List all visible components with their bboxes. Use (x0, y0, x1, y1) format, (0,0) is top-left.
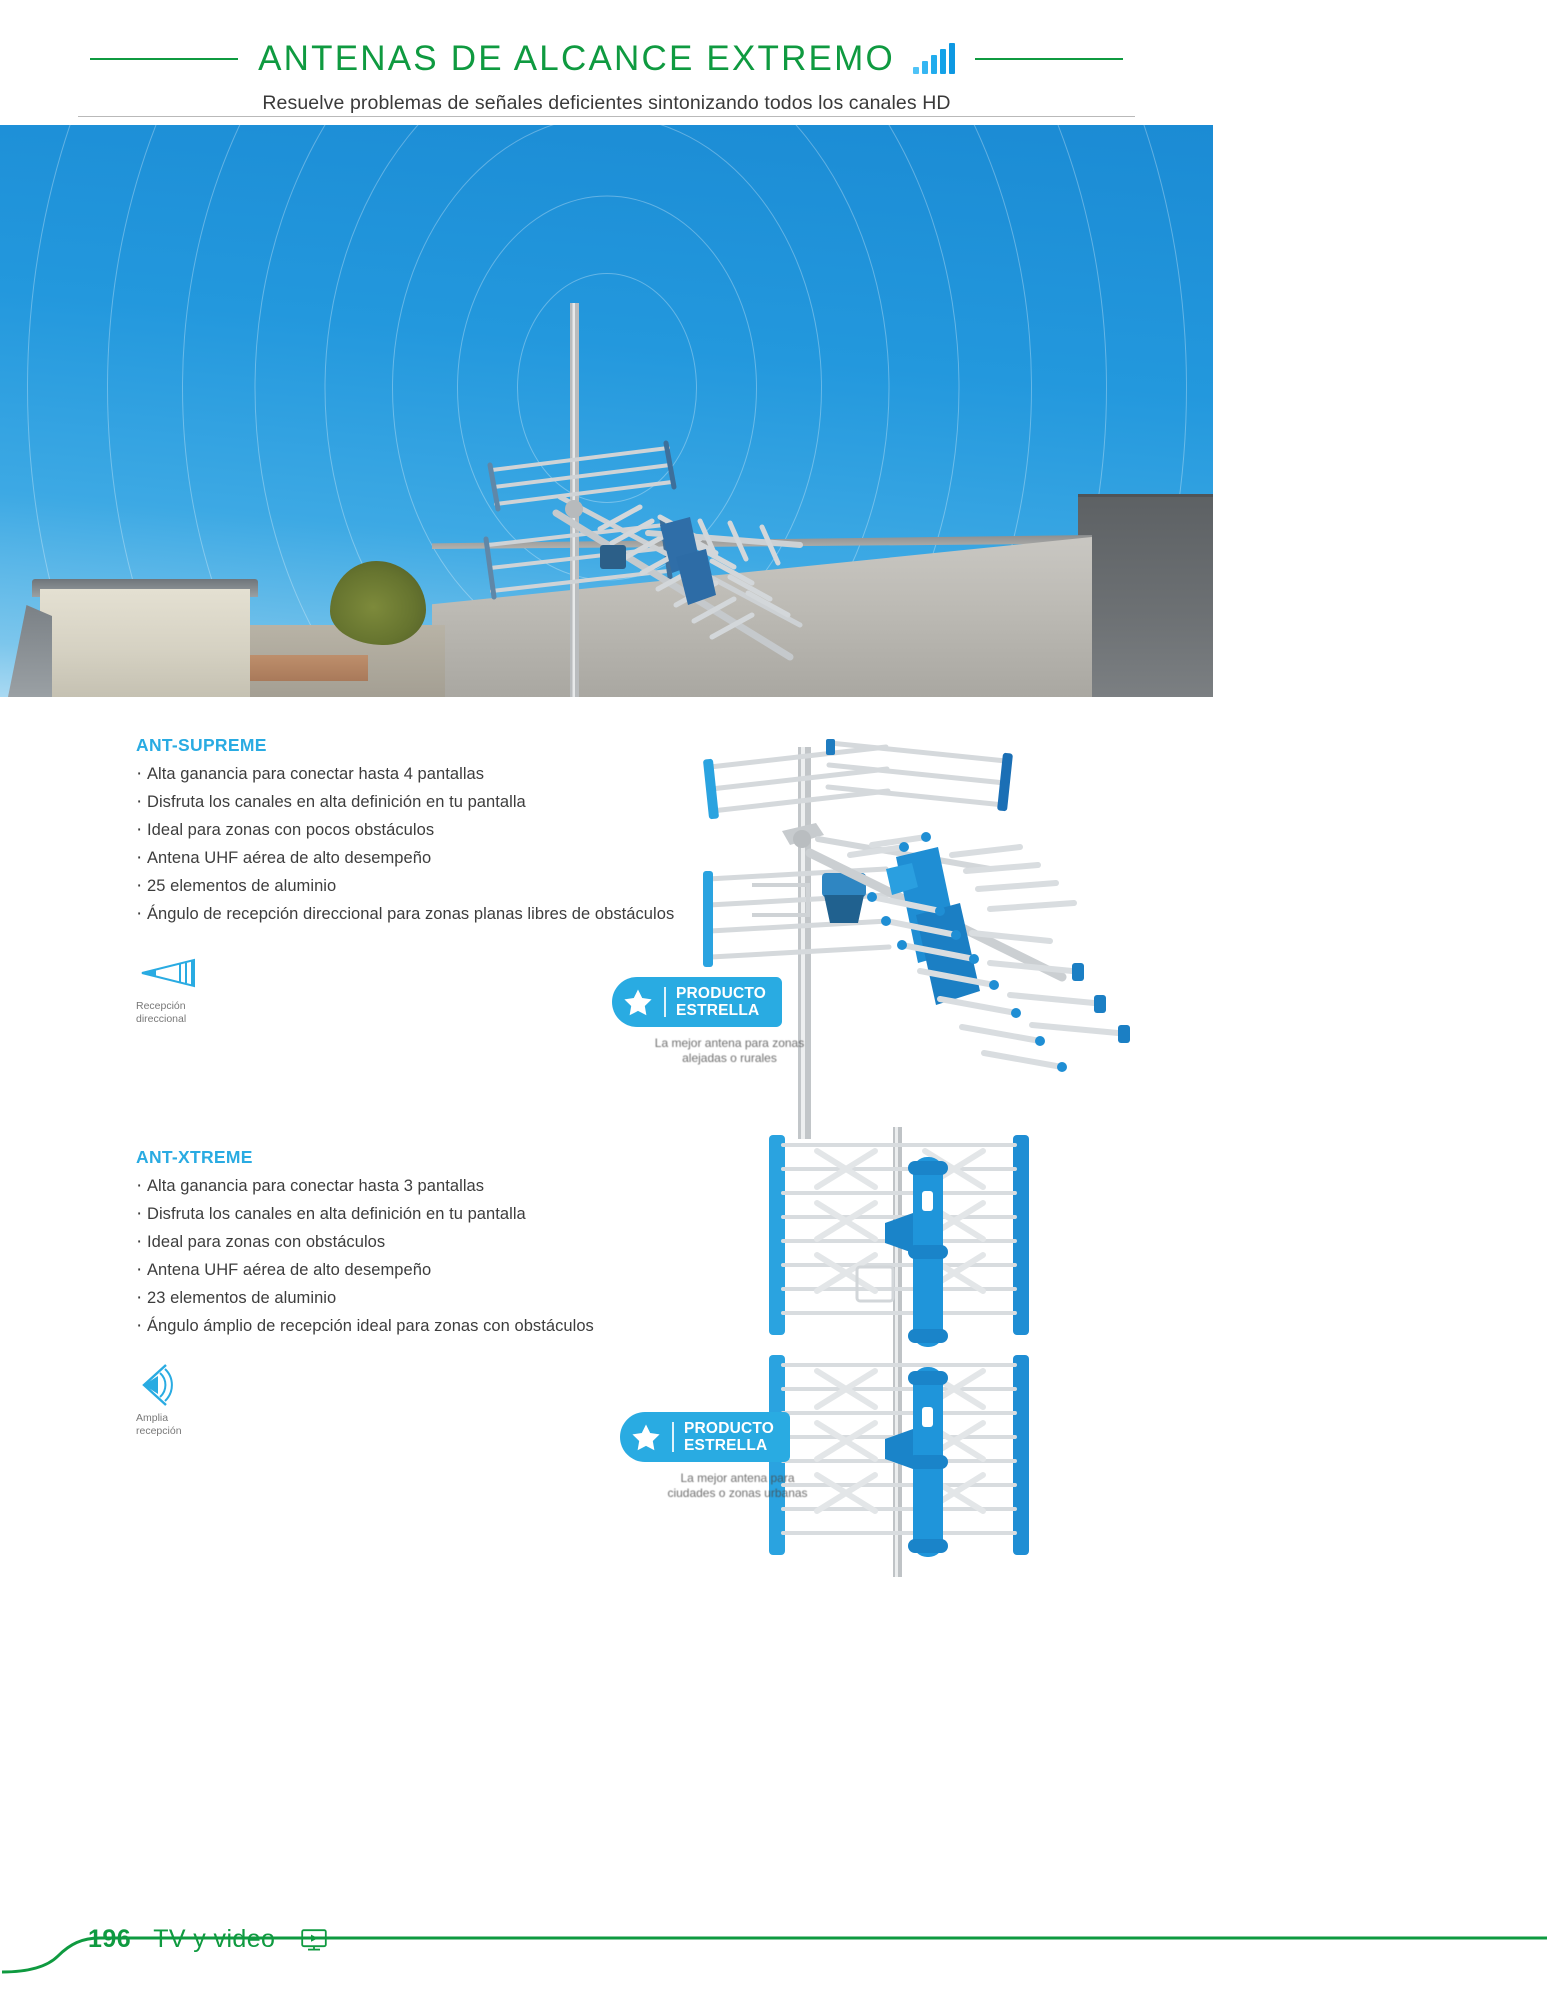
product-image-ant-xtreme (745, 1117, 1055, 1577)
hero-image (0, 125, 1213, 697)
page-title: ANTENAS DE ALCANCE EXTREMO (258, 39, 895, 79)
list-item: Alta ganancia para conectar hasta 3 pant… (136, 1176, 696, 1198)
product-text-ant-supreme: ANT-SUPREME Alta ganancia para conectar … (136, 735, 676, 1026)
badge-text: PRODUCTO ESTRELLA (684, 1420, 774, 1454)
star-badge-ant-supreme: PRODUCTO ESTRELLA La mejor antena para z… (612, 977, 847, 1066)
list-item: Ángulo ámplio de recepción ideal para zo… (136, 1316, 696, 1338)
badge-caption-line1: La mejor antena para zonas (655, 1036, 804, 1050)
directional-reception-icon (136, 952, 256, 994)
header-title-row: ANTENAS DE ALCANCE EXTREMO (0, 36, 1213, 82)
list-item: 25 elementos de aluminio (136, 876, 676, 898)
list-item: Antena UHF aérea de alto desempeño (136, 1260, 696, 1282)
header-rule-left (90, 58, 238, 60)
catalog-page: ANTENAS DE ALCANCE EXTREMO Resuelve prob… (0, 0, 1547, 2000)
badge-line1: PRODUCTO (684, 1420, 774, 1437)
list-item: Ideal para zonas con pocos obstáculos (136, 820, 676, 842)
signal-bars-icon (913, 44, 955, 74)
status-badge: PRODUCTO ESTRELLA (620, 1412, 790, 1462)
badge-caption-line1: La mejor antena para (680, 1471, 794, 1485)
badge-divider (672, 1422, 674, 1452)
product-feature-list: Alta ganancia para conectar hasta 3 pant… (136, 1176, 696, 1338)
badge-divider (664, 987, 666, 1017)
badge-caption: La mejor antena para ciudades o zonas ur… (620, 1471, 855, 1501)
reception-label-line2: recepción (136, 1425, 182, 1437)
star-icon (630, 1421, 662, 1453)
product-image-ant-supreme (690, 719, 1210, 1139)
star-badge-ant-xtreme: PRODUCTO ESTRELLA La mejor antena para c… (620, 1412, 855, 1501)
reception-label: Recepción direccional (136, 1000, 256, 1026)
header-subtitle: Resuelve problemas de señales deficiente… (0, 92, 1213, 115)
list-item: Ángulo de recepción direccional para zon… (136, 904, 676, 926)
star-icon (622, 986, 654, 1018)
product-name: ANT-XTREME (136, 1147, 676, 1168)
reception-label-line1: Amplia (136, 1412, 168, 1424)
header-rule-right (975, 58, 1123, 60)
page-footer: 196 TV y video (0, 1904, 1547, 2000)
wide-reception-icon (136, 1364, 256, 1406)
badge-caption-line2: alejadas o rurales (682, 1051, 777, 1065)
tv-play-icon (301, 1929, 327, 1951)
footer-content: 196 TV y video (88, 1925, 327, 1954)
reception-type-directional: Recepción direccional (136, 952, 256, 1026)
badge-line2: ESTRELLA (676, 1002, 759, 1019)
status-badge: PRODUCTO ESTRELLA (612, 977, 782, 1027)
list-item: Antena UHF aérea de alto desempeño (136, 848, 676, 870)
reception-label: Amplia recepción (136, 1412, 256, 1438)
page-content: ANTENAS DE ALCANCE EXTREMO Resuelve prob… (0, 0, 1213, 2000)
list-item: 23 elementos de aluminio (136, 1288, 696, 1310)
header-divider (78, 116, 1135, 117)
badge-line2: ESTRELLA (684, 1437, 767, 1454)
list-item: Disfruta los canales en alta definición … (136, 792, 676, 814)
reception-label-line2: direccional (136, 1013, 186, 1025)
footer-section-label: TV y video (153, 1925, 275, 1954)
page-number: 196 (88, 1925, 131, 1954)
hero-antenna-graphic (0, 125, 1213, 697)
badge-line1: PRODUCTO (676, 985, 766, 1002)
reception-label-line1: Recepción (136, 1000, 186, 1012)
reception-type-wide: Amplia recepción (136, 1364, 256, 1438)
product-feature-list: Alta ganancia para conectar hasta 4 pant… (136, 764, 676, 926)
list-item: Ideal para zonas con obstáculos (136, 1232, 696, 1254)
page-header: ANTENAS DE ALCANCE EXTREMO Resuelve prob… (0, 0, 1213, 125)
badge-caption: La mejor antena para zonas alejadas o ru… (612, 1036, 847, 1066)
list-item: Disfruta los canales en alta definición … (136, 1204, 696, 1226)
badge-text: PRODUCTO ESTRELLA (676, 985, 766, 1019)
product-name: ANT-SUPREME (136, 735, 676, 756)
product-ant-supreme: ANT-SUPREME Alta ganancia para conectar … (0, 697, 1213, 1137)
product-text-ant-xtreme: ANT-XTREME Alta ganancia para conectar h… (136, 1147, 676, 1438)
badge-caption-line2: ciudades o zonas urbanas (667, 1486, 807, 1500)
list-item: Alta ganancia para conectar hasta 4 pant… (136, 764, 676, 786)
product-ant-xtreme: ANT-XTREME Alta ganancia para conectar h… (0, 1137, 1213, 1557)
